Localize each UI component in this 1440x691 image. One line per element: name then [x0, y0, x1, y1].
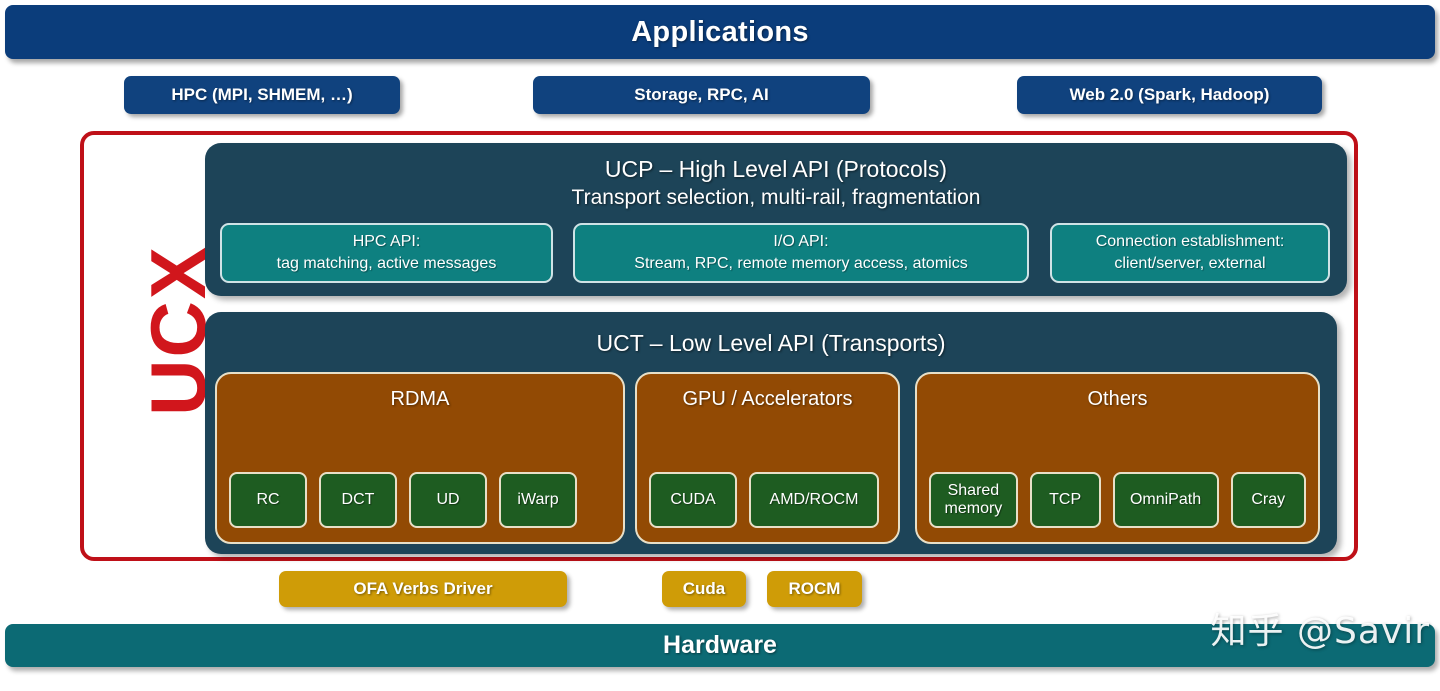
transport-chip-tcp[interactable]: TCP: [1030, 472, 1101, 528]
applications-bar: Applications: [5, 5, 1435, 59]
ucp-title: UCP – High Level API (Protocols): [205, 156, 1347, 183]
uct-group-rdma-chips: RC DCT UD iWarp: [229, 472, 611, 528]
ucx-architecture-diagram: Applications HPC (MPI, SHMEM, …) Storage…: [0, 0, 1440, 691]
transport-chip-shared-memory[interactable]: Shared memory: [929, 472, 1018, 528]
transport-chip-iwarp[interactable]: iWarp: [499, 472, 577, 528]
uct-title: UCT – Low Level API (Transports): [205, 330, 1337, 357]
ucp-subtitle: Transport selection, multi-rail, fragmen…: [205, 186, 1347, 210]
app-pill-web[interactable]: Web 2.0 (Spark, Hadoop): [1017, 76, 1322, 114]
ucp-panel: UCP – High Level API (Protocols) Transpo…: [205, 143, 1347, 296]
ucp-api-box-connection[interactable]: Connection establishment: client/server,…: [1050, 223, 1330, 283]
uct-group-others-title: Others: [917, 388, 1318, 411]
ucp-api-io-line1: I/O API:: [773, 231, 828, 253]
app-pill-hpc[interactable]: HPC (MPI, SHMEM, …): [124, 76, 400, 114]
app-pill-storage-label: Storage, RPC, AI: [634, 85, 768, 105]
transport-chip-ud[interactable]: UD: [409, 472, 487, 528]
uct-group-gpu-accelerators: GPU / Accelerators CUDA AMD/ROCM: [635, 372, 900, 544]
transport-chip-omnipath[interactable]: OmniPath: [1113, 472, 1219, 528]
driver-box-rocm[interactable]: ROCM: [767, 571, 862, 607]
app-pill-hpc-label: HPC (MPI, SHMEM, …): [171, 85, 352, 105]
ucp-api-hpc-line2: tag matching, active messages: [277, 253, 497, 275]
ucp-api-connection-line1: Connection establishment:: [1096, 231, 1285, 253]
app-pill-web-label: Web 2.0 (Spark, Hadoop): [1070, 85, 1270, 105]
driver-box-ofa-verbs[interactable]: OFA Verbs Driver: [279, 571, 567, 607]
app-pill-storage[interactable]: Storage, RPC, AI: [533, 76, 870, 114]
uct-group-others: Others Shared memory TCP OmniPath Cray: [915, 372, 1320, 544]
driver-box-cuda[interactable]: Cuda: [662, 571, 746, 607]
driver-rocm-label: ROCM: [789, 579, 841, 599]
ucp-api-hpc-line1: HPC API:: [353, 231, 421, 253]
transport-chip-cray[interactable]: Cray: [1231, 472, 1306, 528]
uct-group-rdma-title: RDMA: [217, 388, 623, 411]
uct-group-gpu-chips: CUDA AMD/ROCM: [649, 472, 886, 528]
uct-panel: UCT – Low Level API (Transports) RDMA RC…: [205, 312, 1337, 554]
transport-chip-rc[interactable]: RC: [229, 472, 307, 528]
ucp-api-box-hpc[interactable]: HPC API: tag matching, active messages: [220, 223, 553, 283]
hardware-title: Hardware: [663, 631, 777, 660]
ucp-api-connection-line2: client/server, external: [1114, 253, 1265, 275]
uct-group-rdma: RDMA RC DCT UD iWarp: [215, 372, 625, 544]
ucp-api-io-line2: Stream, RPC, remote memory access, atomi…: [634, 253, 967, 275]
transport-chip-cuda[interactable]: CUDA: [649, 472, 737, 528]
hardware-bar: Hardware: [5, 624, 1435, 667]
uct-group-others-chips: Shared memory TCP OmniPath Cray: [929, 472, 1306, 528]
driver-ofa-verbs-label: OFA Verbs Driver: [353, 579, 492, 599]
transport-chip-amd-rocm[interactable]: AMD/ROCM: [749, 472, 879, 528]
transport-chip-dct[interactable]: DCT: [319, 472, 397, 528]
uct-group-gpu-title: GPU / Accelerators: [637, 388, 898, 411]
ucp-api-box-io[interactable]: I/O API: Stream, RPC, remote memory acce…: [573, 223, 1029, 283]
driver-cuda-label: Cuda: [683, 579, 726, 599]
applications-title: Applications: [631, 16, 809, 49]
